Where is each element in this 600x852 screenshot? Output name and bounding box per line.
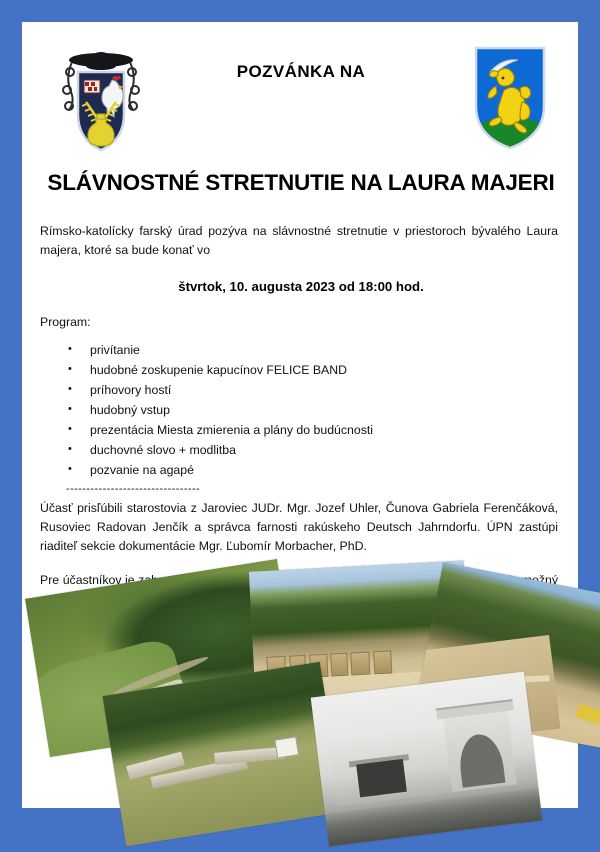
poster-content: POZVÁNKA NA	[22, 22, 578, 808]
refreshments-paragraph: Pre účastníkov je zabezpečené slané aj s…	[40, 571, 562, 628]
poster-header: POZVÁNKA NA	[40, 34, 562, 156]
poster-page: POZVÁNKA NA	[22, 22, 578, 808]
invitation-poster: POZVÁNKA NA	[0, 0, 600, 852]
program-label: Program:	[40, 315, 562, 329]
page-title: SLÁVNOSTNÉ STRETNUTIE NA LAURA MAJERI	[40, 170, 562, 196]
parish-coat-of-arms-icon	[56, 44, 146, 156]
guests-paragraph: Účasť prisľúbili starostovia z Jaroviec …	[40, 499, 562, 556]
list-item: duchovné slovo + modlitba	[90, 441, 562, 461]
intro-paragraph: Rímsko-katolícky farský úrad pozýva na s…	[40, 222, 562, 260]
list-item: hudobné zoskupenie kapucínov FELICE BAND	[90, 361, 562, 381]
program-list: privítanie hudobné zoskupenie kapucínov …	[40, 341, 562, 480]
event-date-line: štvrtok, 10. augusta 2023 od 18:00 hod.	[40, 279, 562, 294]
municipal-coat-of-arms-lion-icon	[468, 42, 552, 152]
list-item: privítanie	[90, 341, 562, 361]
list-item: prezentácia Miesta zmierenia a plány do …	[90, 421, 562, 441]
list-item: hudobný vstup	[90, 401, 562, 421]
dashed-separator: ---------------------------------	[40, 483, 562, 495]
list-item: príhovory hostí	[90, 381, 562, 401]
list-item: pozvanie na agapé	[90, 461, 562, 481]
